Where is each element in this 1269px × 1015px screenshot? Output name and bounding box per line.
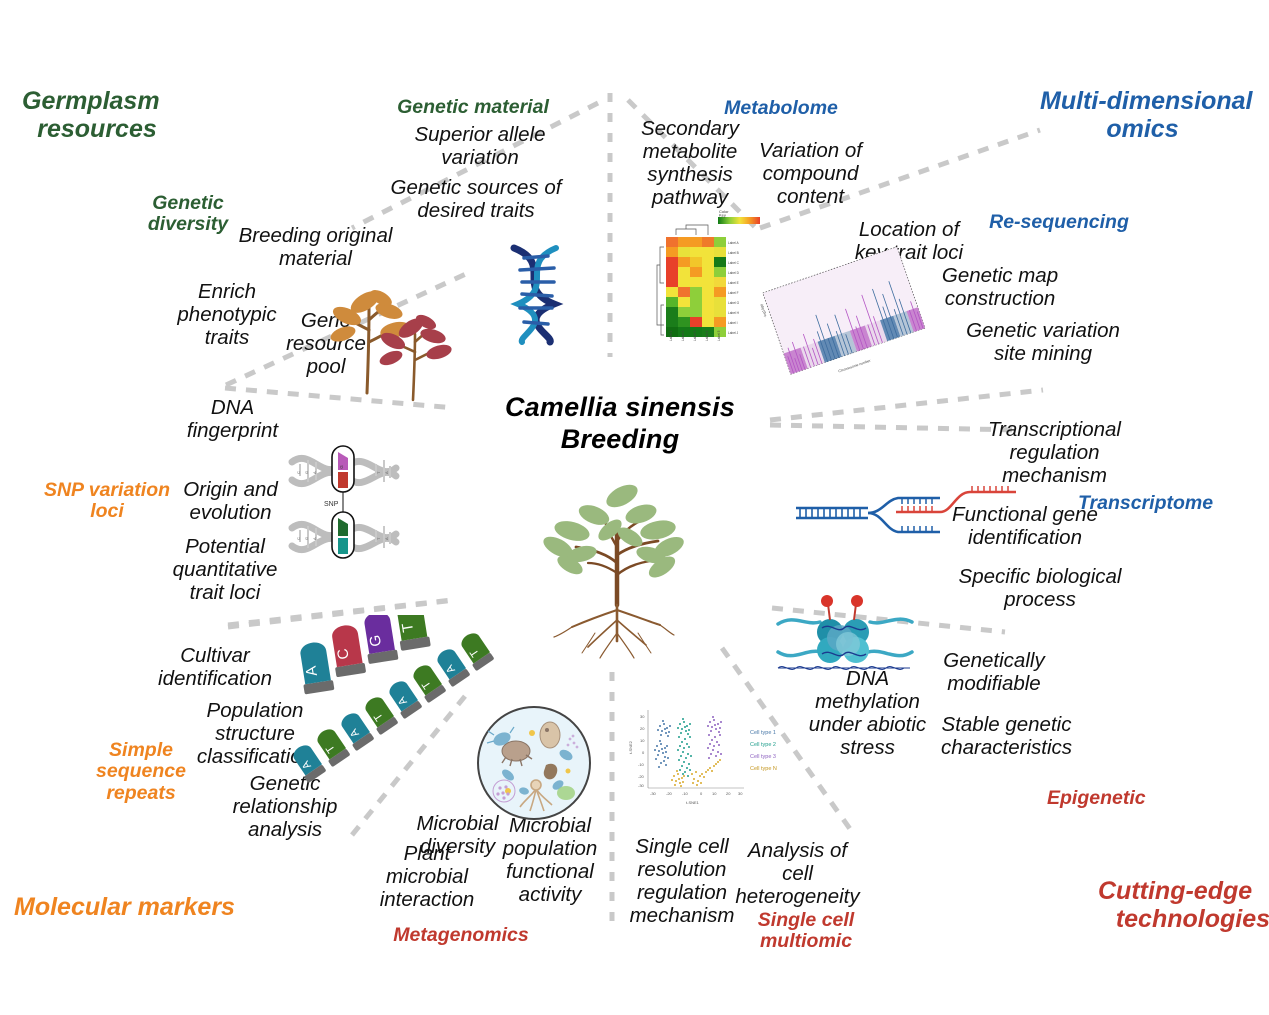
legend-cell-type-3: Cell type 3 <box>750 754 776 760</box>
center-title-line1: Camellia sinensis <box>470 392 770 424</box>
line: Transcriptional <box>957 419 1152 442</box>
item-single-cell-resolution: Single cell resolution regulation mechan… <box>627 836 737 928</box>
ssr-block-T: T <box>393 615 430 651</box>
snp-variation-illustration: C G A T A G C G A T A SNP <box>288 440 400 570</box>
item-genetically-modifiable: Genetically modifiable <box>934 650 1054 696</box>
quadrant-heading-multiomics: Multi-dimensional omics <box>1040 88 1269 143</box>
line: site mining <box>963 343 1123 366</box>
svg-text:-30: -30 <box>650 791 657 796</box>
line: Genetic sources of <box>386 177 566 200</box>
item-stable-genetic-characteristics: Stable genetic characteristics <box>934 714 1079 760</box>
svg-text:G: G <box>304 471 309 474</box>
line: resolution <box>627 859 737 882</box>
legend-cell-type-1: Cell type 1 <box>750 730 776 736</box>
line: Analysis of cell <box>730 840 865 886</box>
quadrant-heading-molecular-markers: Molecular markers <box>14 894 314 922</box>
germplasm-line2: resources <box>22 116 172 144</box>
line: regulation <box>627 882 737 905</box>
svg-text:Chromosome number: Chromosome number <box>838 358 872 373</box>
item-secondary-metabolite-pathway: Secondary metabolite synthesis pathway <box>631 118 749 210</box>
section-label-re-sequencing: Re-sequencing <box>974 212 1144 233</box>
item-analysis-cell-heterogeneity: Analysis of cell heterogeneity <box>730 840 865 909</box>
line: Plant <box>372 843 482 866</box>
item-genetic-variation-site-mining: Genetic variation site mining <box>963 320 1123 366</box>
multiomics-line2: omics <box>1040 116 1245 144</box>
svg-text:10: 10 <box>712 791 717 796</box>
svg-text:20: 20 <box>726 791 731 796</box>
item-breeding-original-material: Breeding original material <box>228 225 403 271</box>
line: Variation of <box>748 140 873 163</box>
germplasm-line1: Germplasm <box>22 88 252 116</box>
svg-text:0: 0 <box>642 750 645 755</box>
svg-text:Label 3: Label 3 <box>693 330 697 341</box>
methyl-group-icon <box>851 595 863 607</box>
snp-loci-line1: SNP variation <box>37 480 177 501</box>
ssr-line2: sequence <box>86 761 196 782</box>
line: synthesis <box>631 164 749 187</box>
section-label-ssr: Simple sequence repeats <box>86 740 196 804</box>
svg-text:30: 30 <box>640 714 645 719</box>
line: mechanism <box>627 905 737 928</box>
ssr-block-G: G <box>361 615 398 664</box>
line: DNA <box>170 397 295 420</box>
item-specific-biological-process: Specific biological process <box>950 566 1130 612</box>
svg-text:20: 20 <box>640 726 645 731</box>
section-label-epigenetic: Epigenetic <box>1047 788 1197 809</box>
svg-text:Label 2: Label 2 <box>681 330 685 341</box>
transcription-illustration <box>790 478 1025 553</box>
methyl-group-icon <box>821 595 833 607</box>
svg-text:0: 0 <box>700 791 703 796</box>
cutting-edge-line1: Cutting-edge <box>1098 878 1269 906</box>
legend-cell-type-n: Cell type N <box>750 766 777 772</box>
svg-text:C: C <box>296 537 301 540</box>
svg-text:10: 10 <box>640 738 645 743</box>
section-label-transcriptome: Transcriptome <box>1078 493 1248 514</box>
line: interaction <box>372 889 482 912</box>
line: population <box>495 838 605 861</box>
center-title: Camellia sinensis Breeding <box>470 392 770 456</box>
svg-text:Label 5: Label 5 <box>717 330 721 341</box>
svg-text:A: A <box>384 537 389 540</box>
item-enrich-phenotypic-traits: Enrich phenotypic traits <box>168 281 286 350</box>
line: analysis <box>225 819 345 842</box>
tsne-scatter-chart: 302010 0-10-20 -30 t-SNE2 -30-20-10 0102… <box>622 702 802 812</box>
svg-text:Label J: Label J <box>728 331 739 335</box>
svg-text:30: 30 <box>738 791 743 796</box>
item-potential-quantitative-trait-loci: Potential quantitative trait loci <box>160 536 290 605</box>
section-label-snp-variation-loci: SNP variation loci <box>37 480 177 523</box>
svg-text:-10: -10 <box>682 791 689 796</box>
line: Breeding original <box>228 225 403 248</box>
quadrant-heading-germplasm: Germplasm resources <box>22 88 252 143</box>
nucleosome-methylation-illustration <box>772 592 917 682</box>
line: evolution <box>168 502 293 525</box>
svg-text:t-SNE2: t-SNE2 <box>628 740 633 754</box>
line: activity <box>495 884 605 907</box>
line: Superior allele <box>400 124 560 147</box>
single-cell-line2: multiomic <box>736 931 876 952</box>
svg-text:Label A: Label A <box>728 241 740 245</box>
line: compound <box>748 163 873 186</box>
svg-text:Label G: Label G <box>728 301 740 305</box>
heatmap-cells <box>666 237 726 337</box>
line: Genetically <box>934 650 1054 673</box>
quadrant-heading-cutting-edge: Cutting-edge technologies <box>1098 878 1269 933</box>
line: Genetic map <box>930 265 1070 288</box>
item-plant-microbial-interaction: Plant microbial interaction <box>372 843 482 912</box>
line: stress <box>805 737 930 760</box>
svg-text:-20: -20 <box>638 774 645 779</box>
line: modifiable <box>934 673 1054 696</box>
line: traits <box>168 327 286 350</box>
line: Stable genetic <box>934 714 1079 737</box>
ssr-line1: Simple <box>86 740 196 761</box>
germplasm-plants-illustration <box>325 278 455 403</box>
line: trait loci <box>160 582 290 605</box>
line: process <box>950 589 1130 612</box>
ssr-nucleotide-illustration: A C G T A <box>290 615 510 795</box>
svg-text:Label 1: Label 1 <box>669 330 673 341</box>
metabolome-heatmap-chart: Color Key <box>656 205 774 350</box>
line: metabolite <box>631 141 749 164</box>
ssr-block-A: A <box>297 640 334 694</box>
svg-text:Label I: Label I <box>728 321 738 325</box>
line: Genetic variation <box>963 320 1123 343</box>
svg-text:A: A <box>312 471 317 474</box>
line: microbial <box>372 866 482 889</box>
single-cell-line1: Single cell <box>736 910 876 931</box>
svg-text:-30: -30 <box>638 783 645 788</box>
figure-canvas: Germplasm resources Multi-dimensional om… <box>0 0 1269 1015</box>
item-variation-compound-content: Variation of compound content <box>748 140 873 209</box>
svg-text:-20: -20 <box>666 791 673 796</box>
item-superior-allele-variation: Superior allele variation <box>400 124 560 170</box>
item-genetic-map-construction: Genetic map construction <box>930 265 1070 311</box>
ssr-line3: repeats <box>86 783 196 804</box>
line: relationship <box>225 796 345 819</box>
cluster-cell-type-1 <box>654 720 671 768</box>
section-label-genetic-material: Genetic material <box>383 97 563 118</box>
svg-text:Label H: Label H <box>728 311 740 315</box>
line: heterogeneity <box>730 886 865 909</box>
svg-text:Key: Key <box>719 213 726 218</box>
section-label-metagenomics: Metagenomics <box>376 925 546 946</box>
line: Origin and <box>168 479 293 502</box>
svg-text:A: A <box>384 471 389 474</box>
svg-text:Label D: Label D <box>728 271 740 275</box>
line: methylation <box>805 691 930 714</box>
heatmap-color-key: Color Key <box>718 209 760 224</box>
tea-plant-illustration <box>510 455 725 670</box>
cutting-edge-line2: technologies <box>1098 906 1269 934</box>
line: functional <box>495 861 605 884</box>
genetic-diversity-line1: Genetic <box>128 193 248 214</box>
line: phenotypic <box>168 304 286 327</box>
center-title-line2: Breeding <box>470 424 770 456</box>
item-genetic-sources-desired-traits: Genetic sources of desired traits <box>386 177 566 223</box>
svg-text:Label 4: Label 4 <box>705 330 709 341</box>
line: material <box>228 248 403 271</box>
multiomics-line1: Multi-dimensional <box>1040 88 1269 116</box>
cluster-cell-type-n <box>671 759 721 787</box>
snp-loci-line2: loci <box>37 501 177 522</box>
line: desired traits <box>386 200 566 223</box>
line: under abiotic <box>805 714 930 737</box>
line: identification <box>150 668 280 691</box>
line: Location of <box>845 219 973 242</box>
svg-text:Label C: Label C <box>728 261 740 265</box>
svg-text:-log10(p): -log10(p) <box>759 303 767 318</box>
item-dna-fingerprint: DNA fingerprint <box>170 397 295 443</box>
line: construction <box>930 288 1070 311</box>
cluster-cell-type-2 <box>677 718 692 777</box>
svg-text:Label E: Label E <box>728 281 739 285</box>
line: fingerprint <box>170 420 295 443</box>
snp-label: SNP <box>324 501 339 508</box>
svg-text:G: G <box>304 537 309 540</box>
line: Cultivar <box>150 645 280 668</box>
item-microbial-population-activity: Microbial population functional activity <box>495 815 605 907</box>
line: Potential <box>160 536 290 559</box>
item-cultivar-identification: Cultivar identification <box>150 645 280 691</box>
svg-text:Label F: Label F <box>728 291 739 295</box>
legend-cell-type-2: Cell type 2 <box>750 742 776 748</box>
line: characteristics <box>934 737 1079 760</box>
dna-helix-icon <box>484 236 594 351</box>
svg-text:Label B: Label B <box>728 251 739 255</box>
line: Secondary <box>631 118 749 141</box>
svg-text:A: A <box>312 537 317 540</box>
line: Specific biological <box>950 566 1130 589</box>
svg-text:C: C <box>296 471 301 474</box>
section-label-single-cell-multiomic: Single cell multiomic <box>736 910 876 953</box>
cluster-cell-type-3 <box>707 716 722 759</box>
line: Enrich <box>168 281 286 304</box>
line: variation <box>400 147 560 170</box>
line: quantitative <box>160 559 290 582</box>
svg-text:t-SNE1: t-SNE1 <box>686 800 700 805</box>
svg-text:-10: -10 <box>638 762 645 767</box>
ssr-block-C: C <box>329 623 366 677</box>
line: Single cell <box>627 836 737 859</box>
svg-text:G: G <box>339 465 344 469</box>
item-origin-and-evolution: Origin and evolution <box>168 479 293 525</box>
